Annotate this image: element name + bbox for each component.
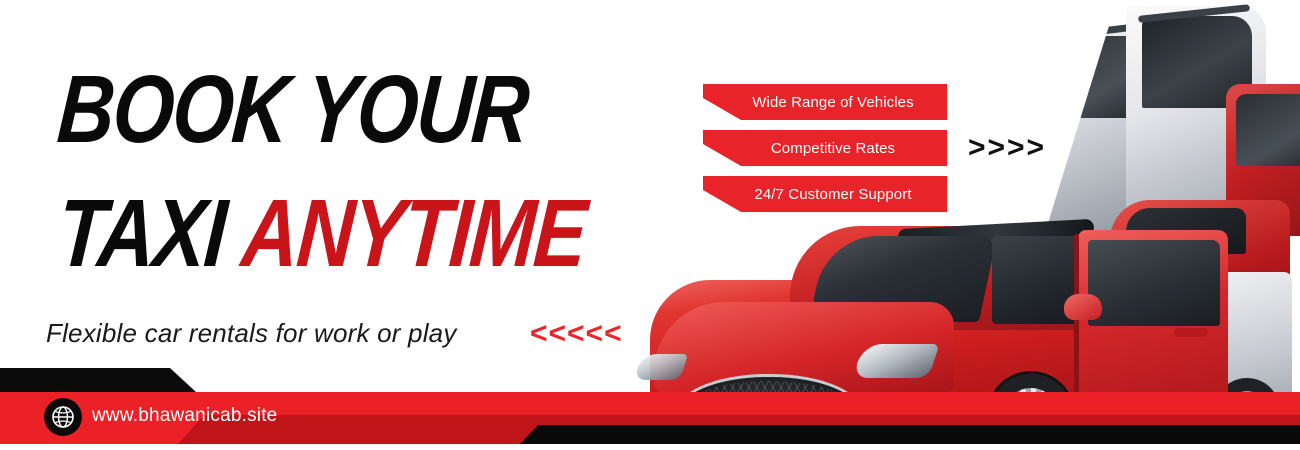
- headline-taxi-word: TAXI: [54, 180, 229, 287]
- feature-ribbon-competitive-rates: Competitive Rates: [703, 130, 947, 166]
- feature-ribbon-label: Competitive Rates: [755, 140, 895, 157]
- feature-ribbon-customer-support: 24/7 Customer Support: [703, 176, 947, 212]
- parked-car-glass-3: [1236, 94, 1300, 166]
- headline-line-1: BOOK YOUR: [55, 62, 531, 158]
- chevron-left-icons: <<<<<: [530, 317, 623, 351]
- footer-black-wedge: [520, 425, 1300, 444]
- chevron-right-icons: >>>>: [968, 131, 1046, 165]
- headline-anytime-word: ANYTIME: [238, 180, 588, 287]
- footer-white-edge: [0, 444, 1300, 450]
- feature-ribbon-label: 24/7 Customer Support: [738, 186, 911, 203]
- feature-ribbon-label: Wide Range of Vehicles: [736, 94, 913, 111]
- feature-ribbon-wide-range: Wide Range of Vehicles: [703, 84, 947, 120]
- taxi-promo-banner: BOOK YOUR TAXI ANYTIME Flexible car rent…: [0, 0, 1300, 450]
- car-side-mirror: [1064, 294, 1102, 320]
- car-door-glass: [1088, 240, 1220, 326]
- car-headlight-left: [852, 344, 939, 378]
- footer-black-accent: [0, 368, 196, 392]
- feature-ribbon-list: Wide Range of Vehicles Competitive Rates…: [703, 84, 953, 222]
- globe-icon: [44, 398, 82, 436]
- headline-line-2: TAXI ANYTIME: [55, 186, 589, 282]
- car-door-handle: [1174, 328, 1208, 337]
- website-url-link[interactable]: www.bhawanicab.site: [92, 405, 277, 427]
- headline-block: BOOK YOUR TAXI ANYTIME Flexible car rent…: [0, 0, 660, 360]
- tagline-text: Flexible car rentals for work or play: [46, 318, 457, 349]
